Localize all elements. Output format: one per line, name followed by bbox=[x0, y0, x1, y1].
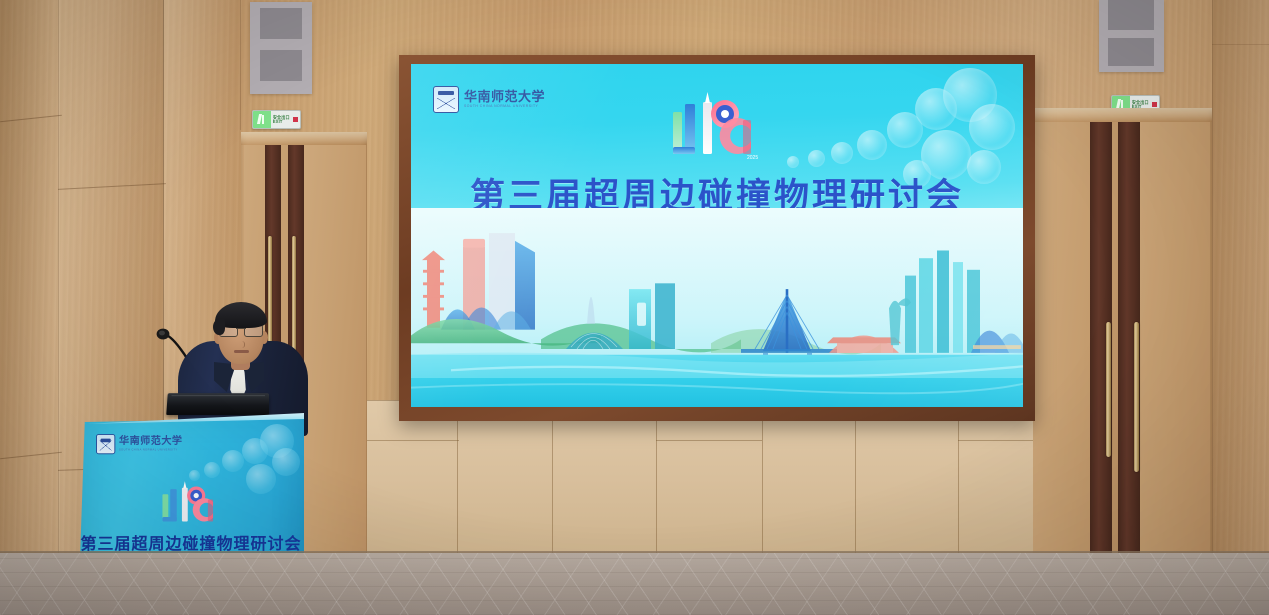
exit-sign-indicator bbox=[1152, 102, 1157, 107]
wall-fold-right bbox=[1212, 0, 1269, 615]
podium-scnu-name-en: SOUTH CHINA NORMAL UNIVERSITY bbox=[119, 449, 182, 452]
acoustic-grille-left bbox=[250, 2, 312, 94]
scnu-logo-text: 华南师范大学 SOUTH CHINA NORMAL UNIVERSITY bbox=[464, 90, 545, 108]
carpet-floor bbox=[0, 553, 1269, 615]
podium-upc-logo bbox=[155, 480, 227, 528]
wall-fold-left bbox=[0, 0, 60, 615]
upc-logo-svg: 2025 bbox=[663, 90, 771, 164]
led-screen: 华南师范大学 SOUTH CHINA NORMAL UNIVERSITY bbox=[411, 64, 1023, 407]
wall-seam bbox=[1212, 0, 1213, 615]
door-lintel-right bbox=[1030, 108, 1212, 122]
wall-seam bbox=[240, 0, 241, 130]
laptop-lid-edge bbox=[172, 395, 265, 396]
podium-scnu-name-cn: 华南师范大学 bbox=[119, 437, 182, 447]
exit-sign-indicator bbox=[293, 117, 298, 122]
scnu-name-en: SOUTH CHINA NORMAL UNIVERSITY bbox=[464, 105, 545, 108]
wall-seam bbox=[1212, 44, 1269, 45]
wainscot-seam bbox=[762, 406, 763, 558]
running-man-icon bbox=[253, 111, 271, 128]
conference-hall-scene: 安全出口 EXIT 安全出口 EXIT bbox=[0, 0, 1269, 615]
presenter-hair bbox=[215, 302, 267, 328]
wainscot-seam bbox=[958, 404, 959, 558]
university-crest-icon bbox=[96, 434, 115, 454]
presenter-mouth bbox=[234, 350, 249, 353]
acoustic-grille-right bbox=[1099, 0, 1164, 72]
wall-seam bbox=[58, 0, 59, 615]
door-lintel-left bbox=[241, 132, 367, 145]
upc-logo-year: 2025 bbox=[747, 155, 758, 161]
wainscot-seam bbox=[552, 406, 553, 558]
presenter-nose bbox=[237, 341, 245, 348]
wainscot-seam bbox=[656, 404, 657, 558]
wainscot-seam bbox=[855, 406, 856, 558]
wainscot-panel bbox=[367, 400, 1033, 558]
wainscot-seam bbox=[656, 440, 762, 441]
scnu-logo: 华南师范大学 SOUTH CHINA NORMAL UNIVERSITY bbox=[433, 86, 545, 113]
exit-sign-left: 安全出口 EXIT bbox=[252, 110, 301, 129]
wainscot-seam bbox=[958, 440, 1033, 441]
exit-sign-labels: 安全出口 EXIT bbox=[271, 116, 293, 124]
carpet-pattern bbox=[0, 553, 1269, 615]
door-leaf-left-b[interactable] bbox=[304, 145, 366, 555]
upc-event-logo: 2025 bbox=[663, 90, 771, 164]
laptop-on-podium[interactable] bbox=[166, 393, 269, 415]
podium-scnu-logo: 华南师范大学 SOUTH CHINA NORMAL UNIVERSITY bbox=[96, 434, 182, 454]
led-screen-frame: 华南师范大学 SOUTH CHINA NORMAL UNIVERSITY bbox=[399, 55, 1035, 421]
guangzhou-skyline-illustration bbox=[411, 208, 1023, 407]
scnu-name-cn: 华南师范大学 bbox=[464, 90, 545, 103]
door-handle-right-b[interactable] bbox=[1134, 322, 1139, 472]
door-handle-right-a[interactable] bbox=[1106, 322, 1111, 457]
podium-scnu-text: 华南师范大学 SOUTH CHINA NORMAL UNIVERSITY bbox=[119, 437, 182, 452]
exit-sign-label-en: EXIT bbox=[273, 119, 293, 123]
wainscot-seam bbox=[457, 406, 458, 558]
wainscot-seam bbox=[367, 440, 459, 441]
university-crest-icon bbox=[433, 86, 459, 113]
